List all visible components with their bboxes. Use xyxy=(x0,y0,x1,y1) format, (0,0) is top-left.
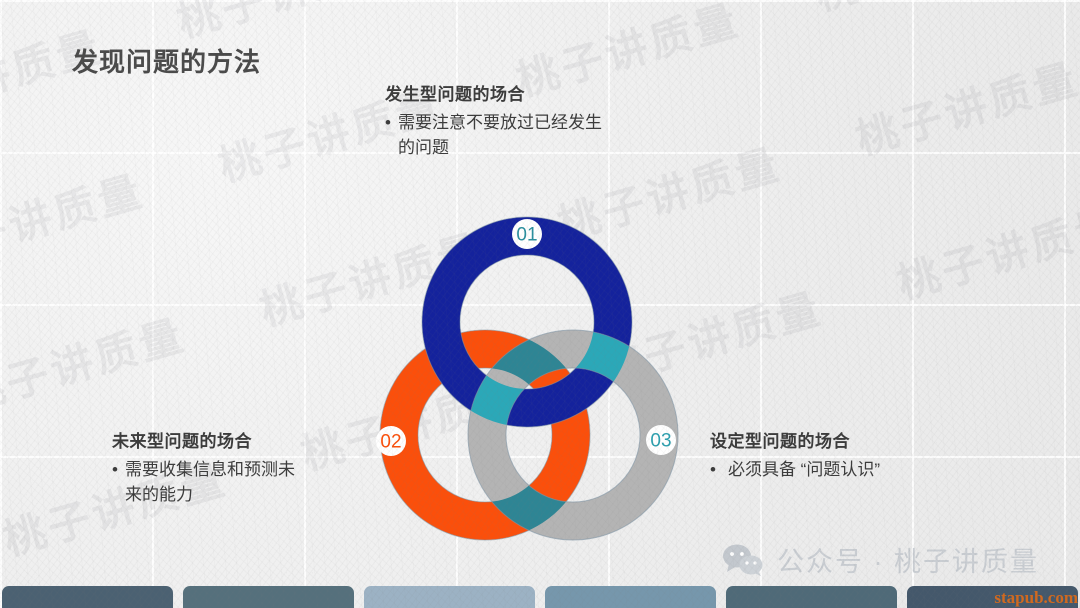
bullet-marker-icon: • xyxy=(112,457,118,507)
callout-left-line-1: 需要收集信息和预测未 xyxy=(125,460,295,479)
callout-top-line-2: 的问题 xyxy=(398,138,449,157)
ring-badge-03[interactable]: 03 xyxy=(646,425,676,455)
bottom-color-bar xyxy=(0,586,1080,608)
callout-setting-problem: 设定型问题的场合 • 必须具备 “问题认识” xyxy=(710,427,1010,482)
site-watermark: stapub.com xyxy=(994,588,1078,608)
bottom-bar-chip xyxy=(545,586,716,608)
callout-right-line-1: 必须具备 “问题认识” xyxy=(728,460,880,479)
callout-left-bullet: • 需要收集信息和预测未 来的能力 xyxy=(112,457,357,507)
callout-right-heading: 设定型问题的场合 xyxy=(710,427,1010,452)
wechat-icon xyxy=(722,544,764,576)
callout-top-bullet: • 需要注意不要放过已经发生 的问题 xyxy=(385,110,665,160)
bottom-bar-chip xyxy=(183,586,354,608)
callout-occurring-problem: 发生型问题的场合 • 需要注意不要放过已经发生 的问题 xyxy=(385,80,665,160)
ring-badge-02[interactable]: 02 xyxy=(376,426,406,456)
callout-future-problem: 未来型问题的场合 • 需要收集信息和预测未 来的能力 xyxy=(112,427,357,507)
callout-top-heading: 发生型问题的场合 xyxy=(385,80,665,105)
bottom-bar-chip xyxy=(726,586,897,608)
slide-canvas: 桃子讲质量桃子讲质量桃子讲质量桃子讲质量桃子讲质量桃子讲质量桃子讲质量桃子讲质量… xyxy=(0,0,1080,608)
ring-badge-02-label: 02 xyxy=(380,432,401,453)
wechat-account-footer: 公众号 · 桃子讲质量 xyxy=(722,540,1039,579)
bottom-bar-chip xyxy=(2,586,173,608)
bullet-marker-icon: • xyxy=(385,110,391,160)
wechat-account-label: 公众号 · 桃子讲质量 xyxy=(777,540,1039,579)
ring-badge-03-label: 03 xyxy=(650,431,671,452)
callout-top-line-1: 需要注意不要放过已经发生 xyxy=(398,113,602,132)
bullet-marker-icon: • xyxy=(710,457,716,482)
callout-left-line-2: 来的能力 xyxy=(125,485,193,504)
callout-left-heading: 未来型问题的场合 xyxy=(112,427,357,452)
bottom-bar-chip xyxy=(364,586,535,608)
ring-badge-01-label: 01 xyxy=(516,225,537,246)
callout-right-bullet: • 必须具备 “问题认识” xyxy=(710,457,1010,482)
ring-badge-01[interactable]: 01 xyxy=(512,219,542,249)
